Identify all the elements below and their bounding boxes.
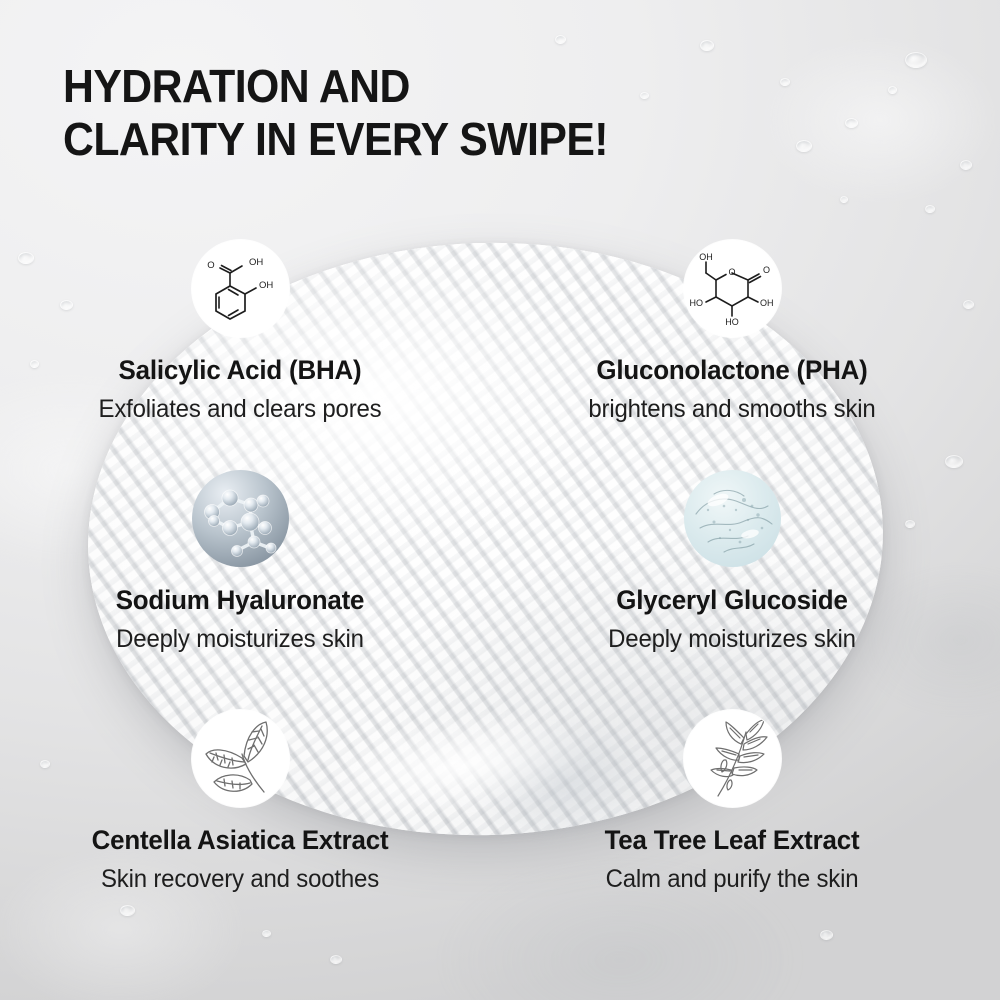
ingredient-item-centella-asiatica: Centella Asiatica Extract Skin recovery … [20, 710, 460, 894]
tea-tree-branch-svg [684, 710, 781, 807]
atom-label-o: O [207, 260, 214, 271]
atom-label-oh-right: OH [760, 298, 774, 308]
ingredient-item-salicylic-acid: O OH OH Salicylic Acid (BHA) Exfoliates … [20, 240, 460, 424]
gluconolactone-svg: OH O O OH HO HO [684, 240, 781, 337]
molecule-3d-icon [192, 470, 289, 567]
molecule-3d-svg [192, 470, 289, 567]
ingredient-title: Centella Asiatica Extract [29, 825, 451, 856]
atom-label-oh-2: OH [259, 280, 273, 291]
atom-label-ring-o: O [728, 267, 735, 277]
ingredient-grid: O OH OH Salicylic Acid (BHA) Exfoliates … [0, 0, 1000, 1000]
ingredient-title: Tea Tree Leaf Extract [521, 825, 943, 856]
atom-label-ho-bottom: HO [725, 317, 739, 327]
gel-texture-icon [684, 470, 781, 567]
tea-tree-branch-icon [684, 710, 781, 807]
ingredient-title: Gluconolactone (PHA) [521, 355, 943, 386]
ingredient-description: brightens and smooths skin [521, 395, 943, 424]
atom-label-ho-left: HO [689, 298, 703, 308]
salicylic-acid-svg: O OH OH [192, 240, 289, 337]
ingredient-description: Calm and purify the skin [521, 865, 943, 894]
ingredient-description: Deeply moisturizes skin [29, 625, 451, 654]
atom-label-carbonyl-o: O [763, 265, 770, 275]
ingredient-item-glyceryl-glucoside: Glyceryl Glucoside Deeply moisturizes sk… [512, 470, 952, 654]
atom-label-oh-1: OH [249, 257, 263, 268]
centella-leaf-svg [192, 710, 289, 807]
gel-texture-svg [684, 470, 781, 567]
ingredient-item-sodium-hyaluronate: Sodium Hyaluronate Deeply moisturizes sk… [20, 470, 460, 654]
centella-leaf-icon [192, 710, 289, 807]
salicylic-acid-structure-icon: O OH OH [192, 240, 289, 337]
ingredient-item-tea-tree: Tea Tree Leaf Extract Calm and purify th… [512, 710, 952, 894]
gluconolactone-structure-icon: OH O O OH HO HO [684, 240, 781, 337]
ingredient-title: Sodium Hyaluronate [29, 585, 451, 616]
ingredient-title: Glyceryl Glucoside [521, 585, 943, 616]
ingredient-description: Skin recovery and soothes [29, 865, 451, 894]
ingredient-item-gluconolactone: OH O O OH HO HO Gluconolactone (PHA) bri… [512, 240, 952, 424]
ingredient-description: Deeply moisturizes skin [521, 625, 943, 654]
ingredient-title: Salicylic Acid (BHA) [29, 355, 451, 386]
atom-label-oh-top: OH [699, 252, 713, 262]
ingredient-description: Exfoliates and clears pores [29, 395, 451, 424]
